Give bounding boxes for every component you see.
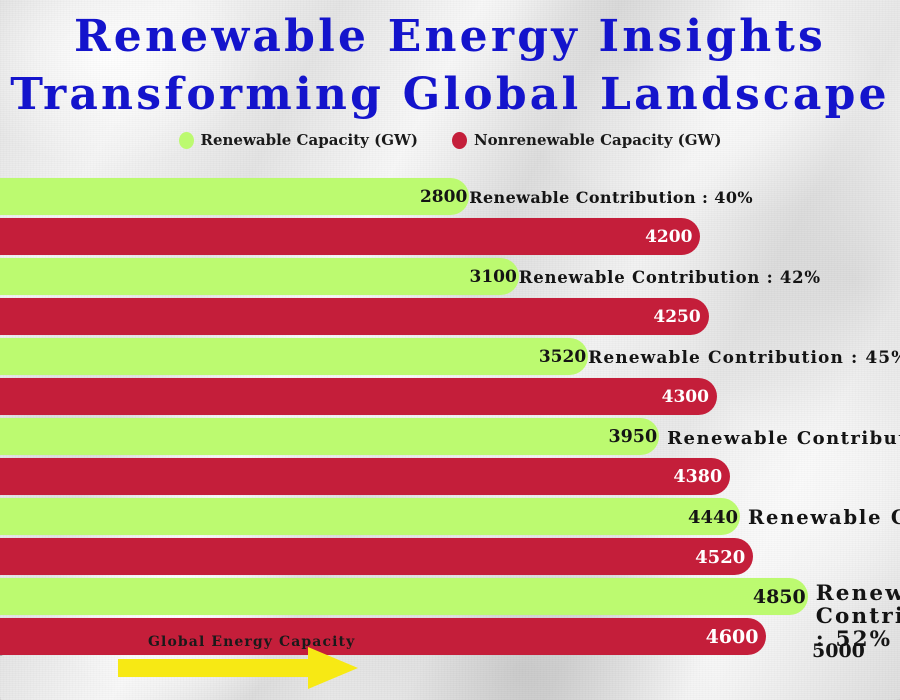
chart-title: Renewable Energy Insights Transforming G… (0, 8, 900, 124)
contribution-annotation: Renewable Contribution : 40% (469, 190, 753, 207)
nonrenewable-value-label: 4520 (695, 549, 745, 567)
legend-item-renewable: Renewable Capacity (GW) (179, 131, 418, 149)
renewable-value-label: 3520 (539, 349, 586, 366)
legend-label: Nonrenewable Capacity (GW) (474, 131, 722, 149)
renewable-value-label: 4440 (688, 509, 738, 527)
nonrenewable-value-label: 4300 (662, 389, 709, 406)
nonrenewable-bar (0, 618, 766, 655)
chart-legend: Renewable Capacity (GW)Nonrenewable Capa… (0, 131, 900, 149)
renewable-value-label: 3950 (608, 429, 657, 447)
nonrenewable-bar (0, 218, 700, 255)
contribution-annotation: Renewable Contribution : 45% (588, 349, 900, 367)
renewable-bar (0, 498, 740, 535)
legend-label: Renewable Capacity (GW) (201, 131, 418, 149)
arrow-icon (118, 645, 358, 691)
nonrenewable-marker-icon (452, 132, 467, 149)
contribution-annotation: Renewable Contribution : 48% (667, 429, 900, 448)
renewable-value-label: 4850 (753, 588, 806, 607)
nonrenewable-value-label: 4600 (706, 628, 759, 647)
renewable-bar (0, 418, 659, 455)
renewable-value-label: 3100 (469, 269, 516, 286)
renewable-marker-icon (179, 132, 194, 149)
renewable-bar (0, 258, 519, 295)
renewable-bar (0, 178, 469, 215)
nonrenewable-value-label: 4380 (673, 469, 722, 487)
infographic-canvas: Renewable Energy Insights Transforming G… (0, 0, 900, 700)
renewable-bar (0, 338, 588, 375)
renewable-value-label: 2800 (420, 189, 467, 206)
nonrenewable-bar (0, 458, 730, 495)
nonrenewable-value-label: 4200 (645, 229, 692, 246)
nonrenewable-bar (0, 298, 709, 335)
nonrenewable-bar (0, 538, 753, 575)
nonrenewable-value-label: 4250 (653, 309, 700, 326)
contribution-annotation: Renewable Contribution : 42% (519, 269, 821, 286)
global-energy-capacity-arrow (118, 645, 358, 691)
contribution-annotation: Renewable Contribution : 52% (816, 583, 900, 651)
title-line-2: Transforming Global Landscape (0, 66, 900, 124)
renewable-bar (0, 578, 808, 615)
legend-item-nonrenewable: Nonrenewable Capacity (GW) (452, 131, 722, 149)
arrow-caption-label: Global Energy Capacity (148, 634, 355, 650)
nonrenewable-bar (0, 378, 717, 415)
title-line-1: Renewable Energy Insights (0, 8, 900, 66)
contribution-annotation: Renewable Contribution : 50% (748, 508, 900, 529)
